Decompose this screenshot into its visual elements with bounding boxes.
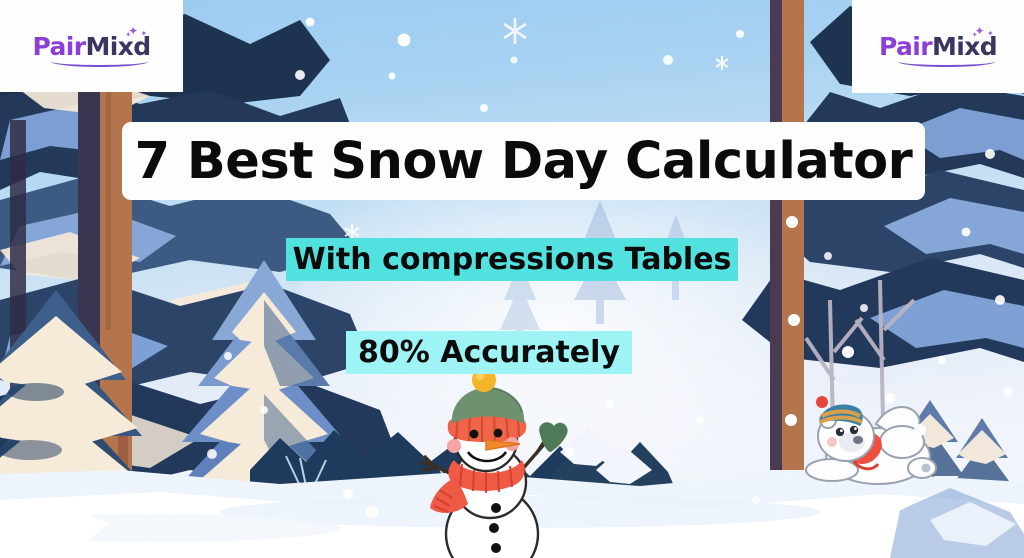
sparkle-icon-small: ✦ — [140, 30, 146, 38]
banner-root: PairMixd ✦ ✦ ✦ PairMixd ✦ ✦ ✦ 7 Best Sno… — [0, 0, 1024, 558]
snowman-cheek — [447, 439, 461, 453]
sparkle-icon-small: ✦ — [987, 30, 993, 38]
snowman-eye — [494, 429, 503, 438]
tree-trunk-right-brown — [782, 0, 804, 470]
snowman-button — [491, 503, 501, 513]
accuracy-text: 80% Accurately — [358, 335, 620, 370]
subtitle-plate: With compressions Tables — [286, 238, 738, 281]
logo-swoosh — [51, 56, 148, 67]
sparkle-icon-tiny: ✦ — [972, 32, 977, 39]
accuracy-plate: 80% Accurately — [346, 331, 632, 374]
logo-plate-top-left[interactable]: PairMixd ✦ ✦ ✦ — [0, 0, 183, 92]
brand-logo-left[interactable]: PairMixd ✦ ✦ ✦ — [32, 32, 150, 61]
page-title: 7 Best Snow Day Calculator — [135, 132, 913, 191]
title-plate: 7 Best Snow Day Calculator — [122, 122, 925, 200]
brand-logo-right[interactable]: PairMixd ✦ ✦ ✦ — [879, 32, 997, 61]
sparkle-icon-tiny: ✦ — [125, 32, 130, 39]
logo-swoosh — [898, 56, 995, 67]
subtitle-text: With compressions Tables — [293, 242, 732, 277]
snowman-eye — [470, 430, 479, 439]
snowman-button — [491, 543, 501, 553]
logo-plate-top-right[interactable]: PairMixd ✦ ✦ ✦ — [852, 0, 1024, 93]
snowman-mitten — [539, 422, 567, 452]
polar-bear — [806, 396, 936, 484]
snowman-button — [489, 523, 499, 533]
